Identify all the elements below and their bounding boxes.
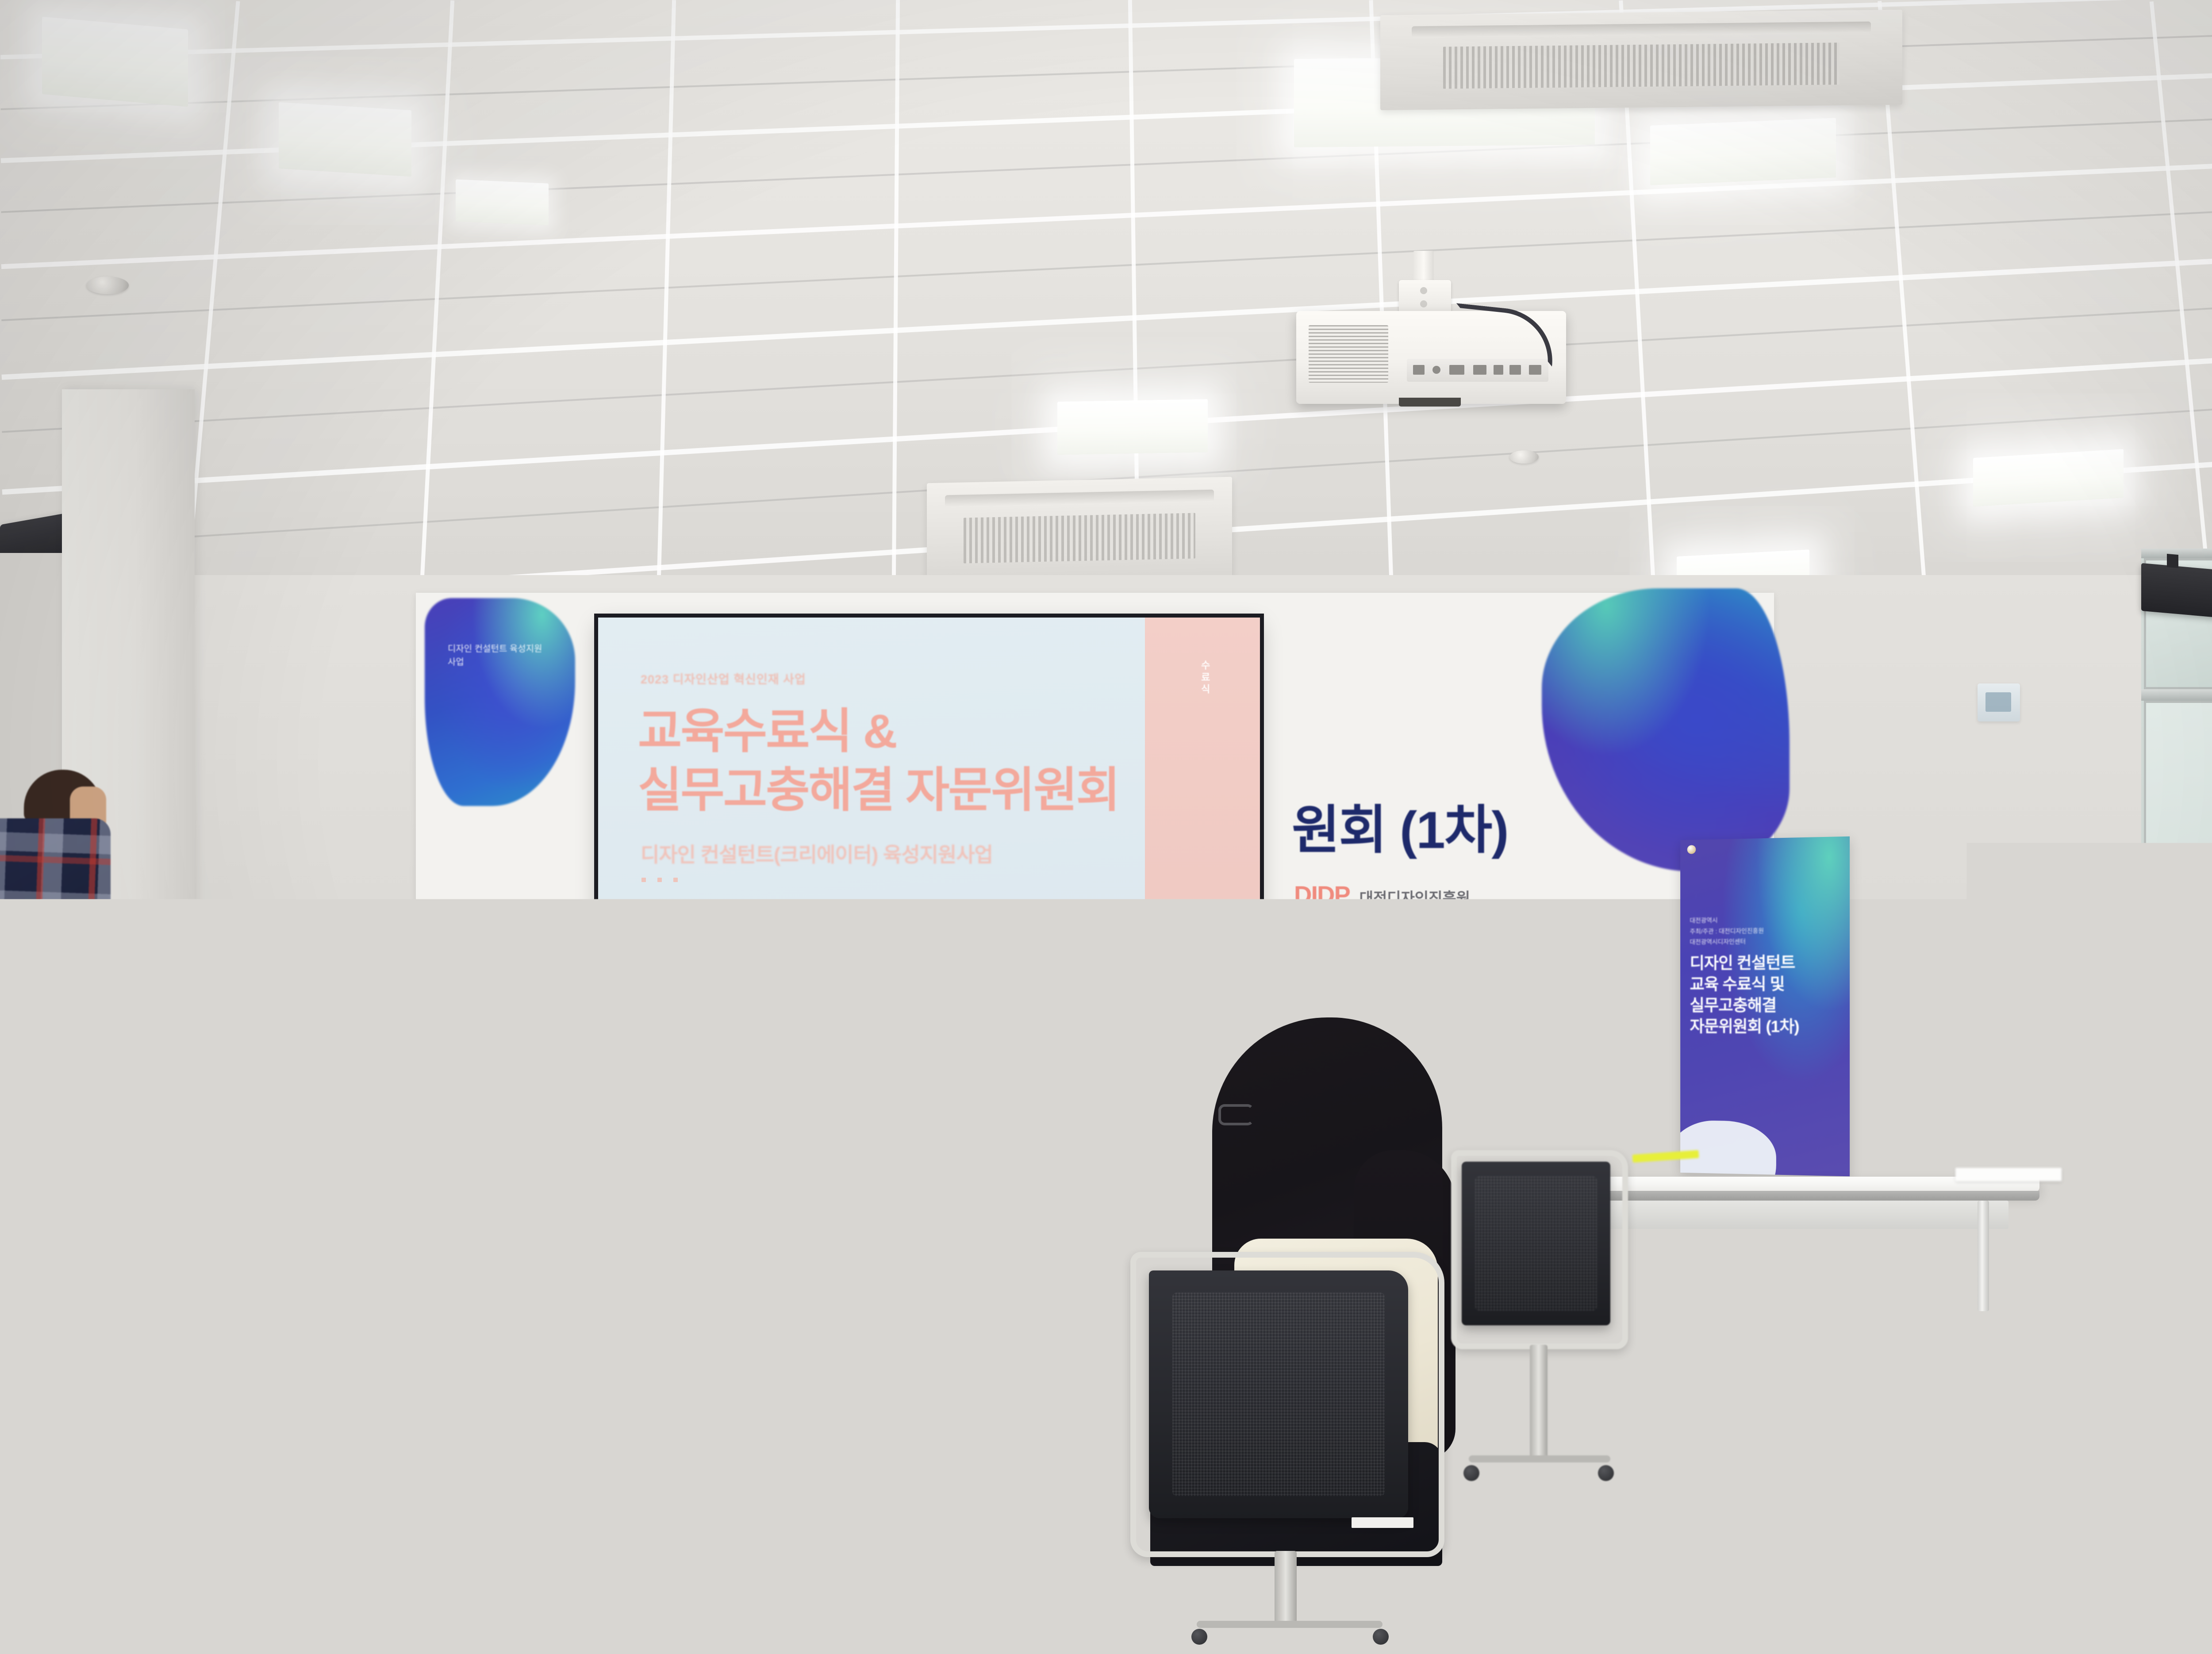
wall-banner-title: 원회 (1차) [1292,787,1508,863]
iced-coffee-cup [478,1017,535,1146]
glasses-icon [1218,1104,1254,1125]
rollup-banner-title: 디자인 컨설턴트 교육 수료식 및 실무고충해결 자문위원회 (1차) [1690,952,1839,1038]
slide-title-line2: 실무고충해결 자문위원회 [638,761,1119,819]
led-panel-light [1057,399,1208,455]
wall-control-panel [1978,683,2020,721]
led-panel-light [1650,118,1836,185]
ceiling [0,0,2212,646]
ceiling-cassette-ac [927,477,1232,587]
white-tray [1004,1161,1102,1205]
projector-pole [1413,251,1434,282]
rollup-banner-subtext: 대전광역시 주최/주관 : 대전디자인진흥원 대전광역시디자인센터 [1690,913,1822,947]
led-panel-light [279,102,411,177]
slide-subtitle: 디자인 컨설턴트(크리에이터) 육성지원사업 [641,839,993,868]
slide-logo: DIDP 대전디자인진흥원 [639,955,780,979]
office-chair [0,1504,221,1654]
led-panel-light [1973,449,2124,507]
wall-banner-logo: DIDP 대전디자인진흥원 [1294,880,1470,909]
slide-divider [639,933,1090,934]
ceiling-projector [1296,272,1566,414]
wall-banner-micro-text: 디자인 컨설턴트 육성지원사업 [448,642,549,669]
didp-logo-korean: 대전디자인진흥원 [1359,886,1470,908]
wall-sign [2011,1004,2025,1042]
projector-lens-shroud [1399,398,1461,407]
slide-accent-band: 수료식 [1145,618,1260,1041]
projection-screen: 수료식 2023 디자인산업 혁신인재 사업 교육수료식 & 실무고충해결 자문… [598,618,1260,1041]
didp-logo-mark: DIDP [1294,880,1350,909]
banner-pin [1687,845,1696,854]
wall-speaker [2141,563,2212,619]
jeans [0,1075,104,1380]
slide-dots [641,878,678,882]
chair-label [361,1455,427,1466]
watercolor-blob-left [425,598,575,806]
slide-eyebrow: 2023 디자인산업 혁신인재 사업 [641,670,806,687]
slide-band-text: 수료식 [1198,660,1212,696]
ceiling-cassette-ac [1380,10,1902,110]
didp-logo-korean: 대전디자인진흥원 [692,960,780,977]
smoke-detector [86,276,129,294]
watercolor-blob-right [1542,588,1790,871]
didp-logo-mark: DIDP [639,955,684,979]
sneakers [0,1372,92,1413]
led-panel-light [456,179,549,225]
plaid-shirt [0,818,111,1084]
smoke-detector [1509,450,1539,464]
projector-vent-grille [1309,325,1388,383]
slide-title-line1: 교육수료식 & [638,702,896,760]
office-chair [779,1150,951,1517]
led-panel-light [42,17,188,107]
photo-scene: 디자인 컨설턴트 육성지원사업 원회 (1차) DIDP 대전디자인진흥원 수료… [0,0,2212,1654]
